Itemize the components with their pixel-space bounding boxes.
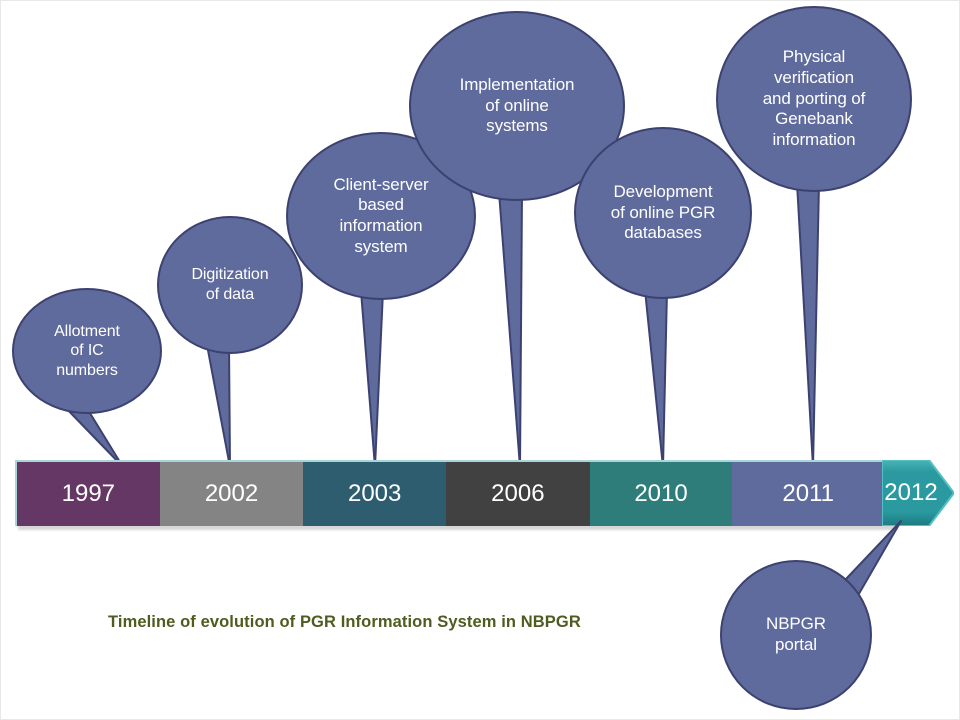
portal-balloon-layer: NBPGR portal [1,1,959,719]
diagram-caption: Timeline of evolution of PGR Information… [108,613,581,632]
balloon-body [721,561,871,709]
timeline-diagram: Allotment of IC numbersDigitization of d… [0,0,960,720]
balloon-nbpgr-portal[interactable] [721,521,901,709]
